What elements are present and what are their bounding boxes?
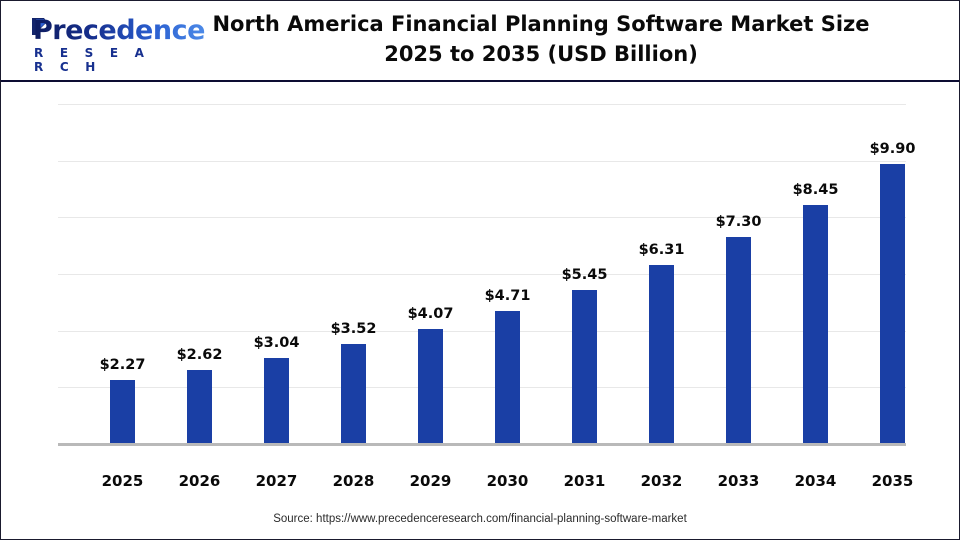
bar-group: $7.30 bbox=[700, 104, 777, 444]
x-axis-tick-label: 2028 bbox=[315, 472, 392, 490]
bar-group: $5.45 bbox=[546, 104, 623, 444]
header-bar: Precedence R E S E A R C H North America… bbox=[1, 1, 959, 82]
x-axis-tick-label: 2029 bbox=[392, 472, 469, 490]
logo-subtitle: R E S E A R C H bbox=[34, 46, 173, 74]
bar-chart: $2.27$2.62$3.04$3.52$4.07$4.71$5.45$6.31… bbox=[1, 84, 959, 504]
x-axis-tick-label: 2033 bbox=[700, 472, 777, 490]
bar-group: $3.52 bbox=[315, 104, 392, 444]
bar-value-label: $2.62 bbox=[161, 347, 238, 363]
chart-infographic: Precedence R E S E A R C H North America… bbox=[0, 0, 960, 540]
bar-value-label: $5.45 bbox=[546, 267, 623, 283]
x-axis-tick-label: 2034 bbox=[777, 472, 854, 490]
x-axis-tick-label: 2026 bbox=[161, 472, 238, 490]
bar-group: $2.27 bbox=[84, 104, 161, 444]
page-title-line-2: 2025 to 2035 (USD Billion) bbox=[191, 39, 891, 69]
bar[interactable] bbox=[726, 237, 751, 444]
bar-value-label: $6.31 bbox=[623, 242, 700, 258]
precedence-research-logo: Precedence R E S E A R C H bbox=[13, 15, 173, 65]
page-title-line-1: North America Financial Planning Softwar… bbox=[191, 9, 891, 39]
logo-wordmark: Precedence bbox=[33, 15, 205, 46]
bar-value-label: $3.04 bbox=[238, 335, 315, 351]
bar[interactable] bbox=[803, 205, 828, 444]
bar[interactable] bbox=[264, 358, 289, 444]
x-axis-tick-label: 2025 bbox=[84, 472, 161, 490]
bar-group: $3.04 bbox=[238, 104, 315, 444]
x-axis-tick-label: 2035 bbox=[854, 472, 931, 490]
bar-group: $8.45 bbox=[777, 104, 854, 444]
plot-area: $2.27$2.62$3.04$3.52$4.07$4.71$5.45$6.31… bbox=[58, 104, 906, 444]
bar-value-label: $7.30 bbox=[700, 214, 777, 230]
bar[interactable] bbox=[187, 370, 212, 444]
bar-group: $9.90 bbox=[854, 104, 931, 444]
bar-value-label: $8.45 bbox=[777, 182, 854, 198]
bar-group: $4.07 bbox=[392, 104, 469, 444]
bar[interactable] bbox=[110, 380, 135, 444]
x-axis-tick-label: 2032 bbox=[623, 472, 700, 490]
bar-value-label: $4.71 bbox=[469, 288, 546, 304]
axis-baseline bbox=[58, 443, 906, 446]
bar-value-label: $9.90 bbox=[854, 141, 931, 157]
bar[interactable] bbox=[649, 265, 674, 444]
bar-group: $2.62 bbox=[161, 104, 238, 444]
x-axis-tick-label: 2030 bbox=[469, 472, 546, 490]
source-caption: Source: https://www.precedenceresearch.c… bbox=[1, 513, 959, 525]
bar-value-label: $2.27 bbox=[84, 357, 161, 373]
bar-group: $4.71 bbox=[469, 104, 546, 444]
bar[interactable] bbox=[418, 329, 443, 444]
bar[interactable] bbox=[341, 344, 366, 444]
bar[interactable] bbox=[880, 164, 905, 445]
x-axis-tick-label: 2031 bbox=[546, 472, 623, 490]
bar[interactable] bbox=[495, 311, 520, 444]
bar[interactable] bbox=[572, 290, 597, 444]
page-title: North America Financial Planning Softwar… bbox=[191, 9, 891, 69]
x-axis-tick-label: 2027 bbox=[238, 472, 315, 490]
bar-group: $6.31 bbox=[623, 104, 700, 444]
bar-value-label: $3.52 bbox=[315, 321, 392, 337]
bar-value-label: $4.07 bbox=[392, 306, 469, 322]
